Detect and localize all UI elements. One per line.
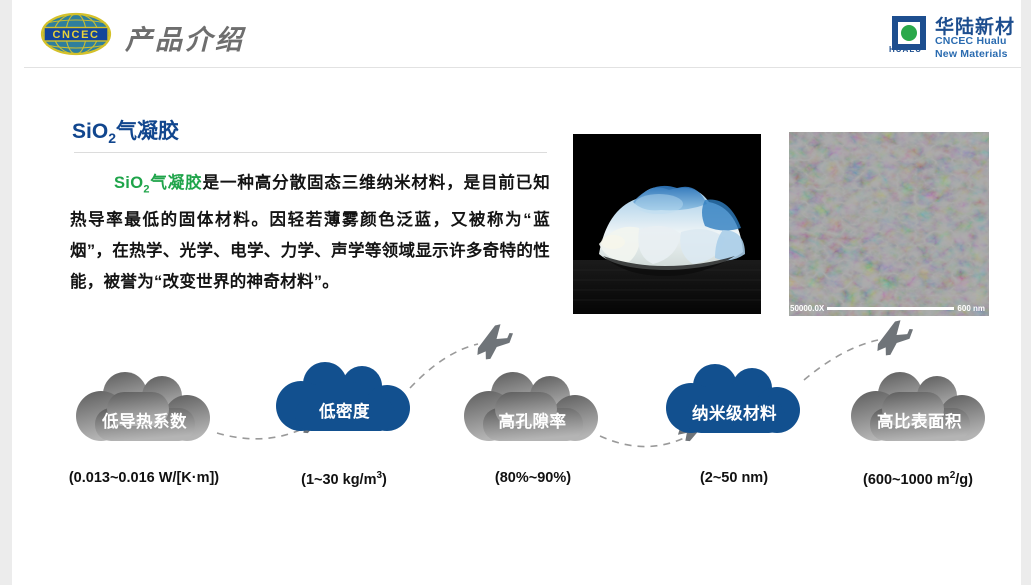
aerogel-sample-photo	[573, 134, 761, 314]
hualu-wordmark: HUALU	[889, 45, 922, 54]
airplane-icon	[470, 320, 516, 364]
sem-scale-length-label: 600 nm	[957, 304, 985, 313]
feature-cloud-3[interactable]: 纳米级材料	[657, 360, 812, 440]
header-divider	[24, 67, 1031, 68]
airplane-icon	[870, 318, 916, 360]
feature-cloud-0[interactable]: 低导热系数	[67, 368, 222, 448]
section-heading: SiO2气凝胶	[72, 115, 179, 146]
section-heading-suffix: 气凝胶	[116, 120, 179, 143]
feature-value-4-prefix: (600~1000 m	[863, 472, 950, 488]
paragraph-highlight-suffix: 气凝胶	[150, 174, 203, 192]
feature-value-4: (600~1000 m2/g)	[803, 470, 1031, 488]
paragraph-highlight-prefix: SiO	[114, 174, 143, 192]
sem-scale-line	[827, 307, 954, 310]
feature-cloud-2[interactable]: 高孔隙率	[455, 368, 610, 448]
feature-cloud-row: 低导热系数 低密度	[12, 318, 1031, 478]
feature-value-row: (0.013~0.016 W/[K·m]) (1~30 kg/m3) (80%~…	[12, 470, 1031, 500]
sem-magnification-label: 50000.0X	[790, 304, 824, 313]
sem-micrograph: 50000.0X 600 nm	[789, 132, 989, 316]
cncec-hualu-logo: HUALU 华陆新材 CNCEC Hualu New Materials	[889, 11, 1029, 57]
feature-value-4-suffix: /g)	[955, 472, 973, 488]
page-title: 产品介绍	[125, 18, 245, 57]
section-heading-underline	[74, 152, 547, 153]
section-heading-subscript: 2	[108, 130, 116, 146]
feature-value-1-suffix: )	[382, 472, 387, 488]
feature-value-1-prefix: (1~30 kg/m	[301, 472, 376, 488]
hualu-english-line2: New Materials	[935, 48, 1008, 60]
feature-cloud-4[interactable]: 高比表面积	[842, 368, 997, 448]
section-heading-prefix: SiO	[72, 120, 108, 143]
paragraph-highlight: SiO2气凝胶	[114, 174, 203, 192]
feature-cloud-1[interactable]: 低密度	[267, 358, 422, 438]
cncec-globe-logo: CNCEC	[30, 12, 122, 56]
feature-value-2: (80%~90%)	[418, 470, 648, 486]
slide-root: CNCEC 产品介绍 HUALU 华陆新材 CNCEC Hualu New Ma…	[0, 0, 1031, 585]
section-paragraph: SiO2气凝胶是一种高分散固态三维纳米材料，是目前已知热导率最低的固体材料。因轻…	[70, 168, 550, 298]
cncec-wordmark: CNCEC	[52, 29, 99, 41]
slide-header: CNCEC 产品介绍 HUALU 华陆新材 CNCEC Hualu New Ma…	[12, 0, 1031, 68]
feature-value-0: (0.013~0.016 W/[K·m])	[29, 470, 259, 486]
hualu-english-line1: CNCEC Hualu	[935, 35, 1007, 47]
sem-scale-bar: 50000.0X 600 nm	[789, 302, 989, 315]
